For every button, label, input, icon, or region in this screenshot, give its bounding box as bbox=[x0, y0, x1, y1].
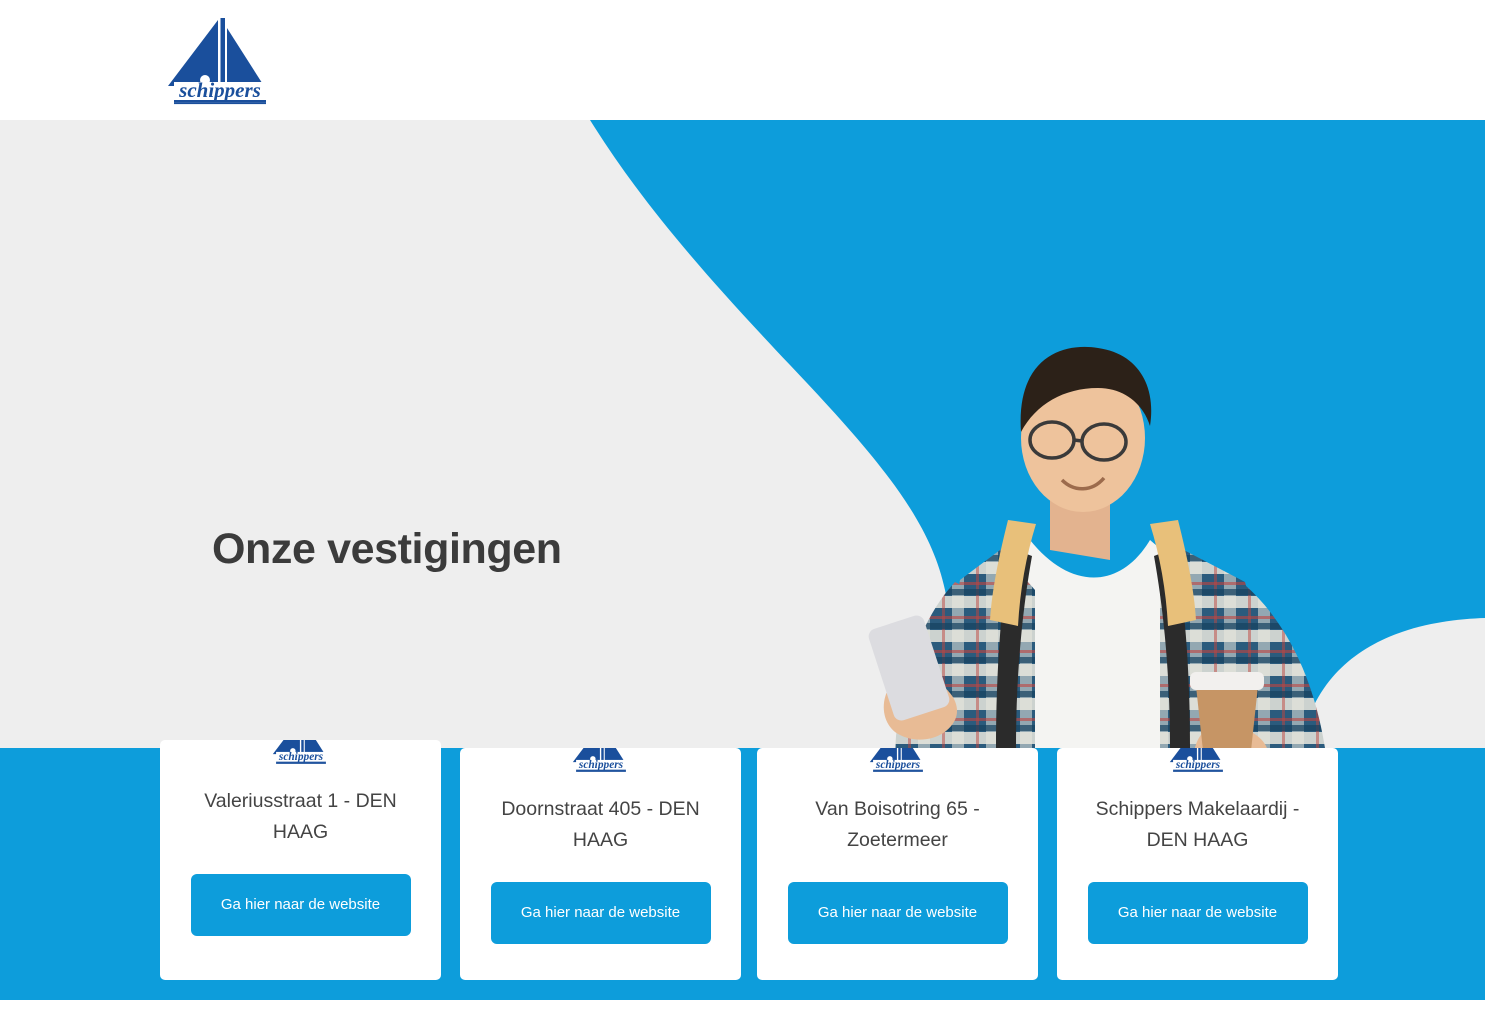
site-logo[interactable]: schippers bbox=[160, 12, 280, 108]
sailboat-logo-icon: schippers bbox=[1165, 748, 1231, 774]
page-title: Onze vestigingen bbox=[212, 525, 562, 574]
location-card[interactable]: schippers Valeriusstraat 1 - DEN HAAG Ga… bbox=[160, 740, 441, 980]
location-card[interactable]: schippers Schippers Makelaardij - DEN HA… bbox=[1057, 748, 1338, 980]
page-root: schippers bbox=[0, 0, 1485, 1018]
card-logo: schippers bbox=[568, 748, 634, 774]
svg-text:schippers: schippers bbox=[577, 759, 623, 771]
visit-website-button[interactable]: Ga hier naar de website bbox=[491, 882, 711, 944]
location-title: Valeriusstraat 1 - DEN HAAG bbox=[160, 786, 441, 848]
location-title: Schippers Makelaardij - DEN HAAG bbox=[1057, 794, 1338, 856]
hero-section: Onze vestigingen bbox=[0, 120, 1485, 748]
visit-website-button[interactable]: Ga hier naar de website bbox=[191, 874, 411, 936]
sailboat-logo-icon: schippers bbox=[160, 12, 280, 108]
sailboat-logo-icon: schippers bbox=[865, 748, 931, 774]
card-logo: schippers bbox=[865, 748, 931, 774]
hero-wave-shape bbox=[0, 120, 1485, 748]
svg-text:schippers: schippers bbox=[1174, 759, 1220, 771]
sailboat-logo-icon: schippers bbox=[568, 748, 634, 774]
svg-text:schippers: schippers bbox=[277, 751, 323, 763]
location-card[interactable]: schippers Van Boisotring 65 - Zoetermeer… bbox=[757, 748, 1038, 980]
page-footer-strip bbox=[0, 1000, 1485, 1018]
card-logo: schippers bbox=[1165, 748, 1231, 774]
location-title: Doornstraat 405 - DEN HAAG bbox=[460, 794, 741, 856]
sailboat-logo-icon: schippers bbox=[268, 740, 334, 766]
svg-text:schippers: schippers bbox=[874, 759, 920, 771]
location-card[interactable]: schippers Doornstraat 405 - DEN HAAG Ga … bbox=[460, 748, 741, 980]
svg-text:schippers: schippers bbox=[178, 78, 261, 102]
visit-website-button[interactable]: Ga hier naar de website bbox=[1088, 882, 1308, 944]
visit-website-button[interactable]: Ga hier naar de website bbox=[788, 882, 1008, 944]
card-logo: schippers bbox=[268, 740, 334, 766]
site-header: schippers bbox=[0, 0, 1485, 120]
location-title: Van Boisotring 65 - Zoetermeer bbox=[757, 794, 1038, 856]
